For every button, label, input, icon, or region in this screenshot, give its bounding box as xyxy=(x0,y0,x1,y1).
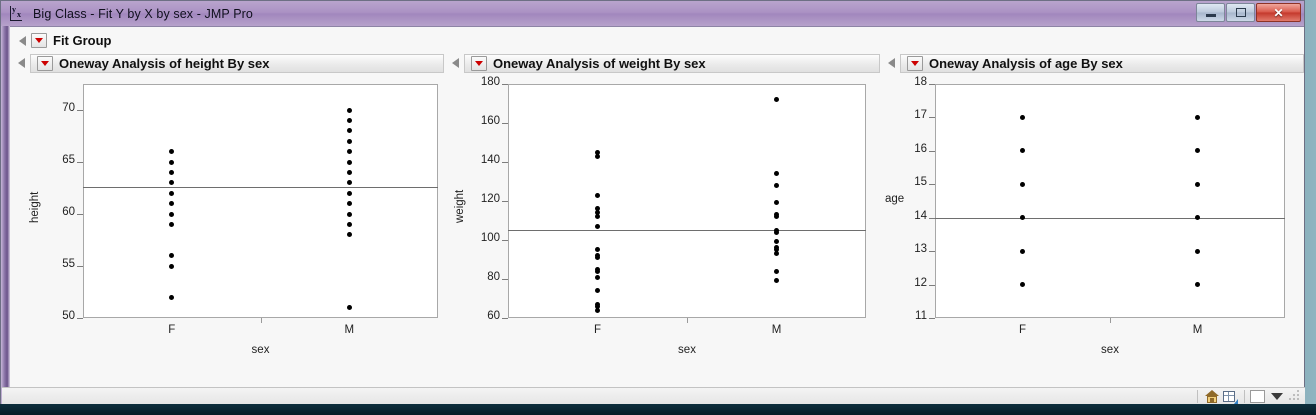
data-point[interactable] xyxy=(595,224,600,229)
data-point[interactable] xyxy=(169,191,174,196)
y-tick-mark xyxy=(929,285,935,286)
mean-line xyxy=(508,230,866,231)
data-point[interactable] xyxy=(1020,115,1025,120)
y-tick-label: 16 xyxy=(889,143,927,155)
x-tick-label: F xyxy=(142,324,202,336)
data-point[interactable] xyxy=(347,160,352,165)
desktop-strip xyxy=(0,404,1316,415)
x-tick-label: F xyxy=(993,324,1053,336)
window-titlebar[interactable]: y x Big Class - Fit Y by X by sex - JMP … xyxy=(1,1,1304,27)
panel-header-age[interactable]: Oneway Analysis of age By sex xyxy=(880,52,1304,74)
y-tick-mark xyxy=(502,84,508,85)
data-point[interactable] xyxy=(1020,249,1025,254)
data-point[interactable] xyxy=(1195,182,1200,187)
resize-grip-icon[interactable] xyxy=(1289,390,1301,402)
data-point[interactable] xyxy=(169,160,174,165)
panel-header-weight[interactable]: Oneway Analysis of weight By sex xyxy=(444,52,880,74)
x-axis-title: sex xyxy=(935,344,1285,356)
data-point[interactable] xyxy=(774,269,779,274)
data-point[interactable] xyxy=(595,308,600,313)
y-tick-label: 50 xyxy=(37,310,75,322)
y-tick-label: 11 xyxy=(889,310,927,322)
window-left-edge xyxy=(1,26,10,404)
home-icon[interactable] xyxy=(1204,389,1220,404)
data-point[interactable] xyxy=(1195,115,1200,120)
panel-title: Oneway Analysis of age By sex xyxy=(929,56,1123,71)
oneway-panel-height: Oneway Analysis of height By sex50556065… xyxy=(10,52,444,379)
y-tick-label: 160 xyxy=(462,115,500,127)
data-point[interactable] xyxy=(347,305,352,310)
data-point[interactable] xyxy=(169,295,174,300)
data-point[interactable] xyxy=(774,230,779,235)
charts-row: Oneway Analysis of height By sex50556065… xyxy=(10,52,1304,379)
status-separator-2 xyxy=(1244,390,1245,403)
y-tick-label: 15 xyxy=(889,176,927,188)
panel-title: Oneway Analysis of weight By sex xyxy=(493,56,706,71)
oneway-panel-weight: Oneway Analysis of weight By sex60801001… xyxy=(444,52,880,379)
data-point[interactable] xyxy=(595,154,600,159)
data-point[interactable] xyxy=(169,264,174,269)
y-tick-mark xyxy=(77,214,83,215)
y-tick-mark xyxy=(929,84,935,85)
y-axis-title: age xyxy=(885,193,904,205)
y-tick-label: 70 xyxy=(37,102,75,114)
disclosure-triangle-icon[interactable] xyxy=(888,58,895,68)
y-tick-mark xyxy=(502,201,508,202)
y-tick-label: 80 xyxy=(462,271,500,283)
minimize-icon xyxy=(1206,14,1216,17)
y-axis-title: height xyxy=(29,192,41,223)
app-root: y x Big Class - Fit Y by X by sex - JMP … xyxy=(0,0,1316,415)
fit-group-title: Fit Group xyxy=(53,33,112,48)
data-point[interactable] xyxy=(774,183,779,188)
x-tick-mark xyxy=(261,318,262,323)
y-tick-label: 100 xyxy=(462,232,500,244)
red-triangle-menu-button[interactable] xyxy=(31,33,47,48)
mean-line xyxy=(83,187,438,188)
disclosure-triangle-icon[interactable] xyxy=(19,36,26,46)
restore-button[interactable] xyxy=(1226,3,1255,22)
white-square-icon[interactable] xyxy=(1250,390,1265,403)
red-triangle-menu-button[interactable] xyxy=(37,56,53,71)
data-point[interactable] xyxy=(347,149,352,154)
panel-title-bar[interactable]: Oneway Analysis of weight By sex xyxy=(464,54,880,73)
x-tick-mark xyxy=(1110,318,1111,323)
data-point[interactable] xyxy=(347,139,352,144)
data-point[interactable] xyxy=(347,170,352,175)
y-tick-mark xyxy=(929,251,935,252)
y-tick-label: 13 xyxy=(889,243,927,255)
y-tick-mark xyxy=(502,318,508,319)
minimize-button[interactable] xyxy=(1196,3,1225,22)
mean-line xyxy=(935,218,1285,219)
y-tick-mark xyxy=(929,151,935,152)
y-tick-mark xyxy=(929,318,935,319)
panel-title: Oneway Analysis of height By sex xyxy=(59,56,269,71)
y-tick-mark xyxy=(502,123,508,124)
disclosure-triangle-icon[interactable] xyxy=(452,58,459,68)
data-point[interactable] xyxy=(347,222,352,227)
y-tick-label: 120 xyxy=(462,193,500,205)
panel-title-bar[interactable]: Oneway Analysis of age By sex xyxy=(900,54,1304,73)
data-point[interactable] xyxy=(169,212,174,217)
y-tick-label: 180 xyxy=(462,76,500,88)
y-tick-mark xyxy=(502,240,508,241)
y-tick-label: 55 xyxy=(37,258,75,270)
y-tick-label: 14 xyxy=(889,210,927,222)
y-tick-mark xyxy=(929,184,935,185)
caption-buttons: ✕ xyxy=(1196,3,1301,22)
data-point[interactable] xyxy=(347,108,352,113)
y-tick-label: 12 xyxy=(889,277,927,289)
y-tick-mark xyxy=(77,110,83,111)
plot-area-height: 5055606570FMheightsex xyxy=(10,74,444,379)
red-triangle-menu-button[interactable] xyxy=(471,56,487,71)
y-tick-label: 60 xyxy=(37,206,75,218)
y-tick-mark xyxy=(77,162,83,163)
data-point[interactable] xyxy=(347,118,352,123)
x-axis-title: sex xyxy=(508,344,866,356)
plot-area-weight: 6080100120140160180FMweightsex xyxy=(444,74,880,379)
jmp-app-icon: y x xyxy=(9,6,26,21)
y-tick-label: 65 xyxy=(37,154,75,166)
chevron-down-icon[interactable] xyxy=(1271,393,1283,400)
data-point[interactable] xyxy=(595,193,600,198)
x-tick-label: M xyxy=(319,324,379,336)
y-tick-label: 17 xyxy=(889,109,927,121)
close-button[interactable]: ✕ xyxy=(1256,3,1301,22)
x-tick-label: F xyxy=(568,324,628,336)
y-tick-mark xyxy=(929,117,935,118)
restore-icon xyxy=(1236,8,1246,17)
plot-area-age: 1112131415161718FMagesex xyxy=(880,74,1304,379)
plot-frame xyxy=(83,84,438,318)
fit-group-outline[interactable]: Fit Group xyxy=(10,30,1304,51)
red-triangle-menu-button[interactable] xyxy=(907,56,923,71)
jmp-window: y x Big Class - Fit Y by X by sex - JMP … xyxy=(0,0,1305,404)
x-tick-mark xyxy=(687,318,688,323)
data-point[interactable] xyxy=(1020,182,1025,187)
y-tick-label: 140 xyxy=(462,154,500,166)
data-point[interactable] xyxy=(595,275,600,280)
status-separator xyxy=(1197,390,1198,403)
close-icon: ✕ xyxy=(1273,7,1283,19)
plot-frame xyxy=(508,84,866,318)
data-point[interactable] xyxy=(595,269,600,274)
y-tick-label: 18 xyxy=(889,76,927,88)
plot-frame xyxy=(935,84,1285,318)
panel-header-height[interactable]: Oneway Analysis of height By sex xyxy=(10,52,444,74)
status-bar xyxy=(2,387,1305,404)
y-tick-label: 60 xyxy=(462,310,500,322)
data-table-icon[interactable] xyxy=(1222,389,1238,404)
x-tick-label: M xyxy=(1168,324,1228,336)
data-point[interactable] xyxy=(1195,249,1200,254)
data-point[interactable] xyxy=(347,212,352,217)
window-title: Big Class - Fit Y by X by sex - JMP Pro xyxy=(33,7,253,21)
x-tick-label: M xyxy=(747,324,807,336)
panel-title-bar[interactable]: Oneway Analysis of height By sex xyxy=(30,54,444,73)
y-tick-mark xyxy=(77,266,83,267)
disclosure-triangle-icon[interactable] xyxy=(18,58,25,68)
y-tick-mark xyxy=(77,318,83,319)
y-tick-mark xyxy=(502,162,508,163)
oneway-panel-age: Oneway Analysis of age By sex11121314151… xyxy=(880,52,1304,379)
y-tick-mark xyxy=(502,279,508,280)
data-point[interactable] xyxy=(347,201,352,206)
y-axis-title: weight xyxy=(454,190,466,223)
data-point[interactable] xyxy=(347,191,352,196)
x-axis-title: sex xyxy=(83,344,438,356)
report-area: Fit Group Oneway Analysis of height By s… xyxy=(10,27,1304,387)
